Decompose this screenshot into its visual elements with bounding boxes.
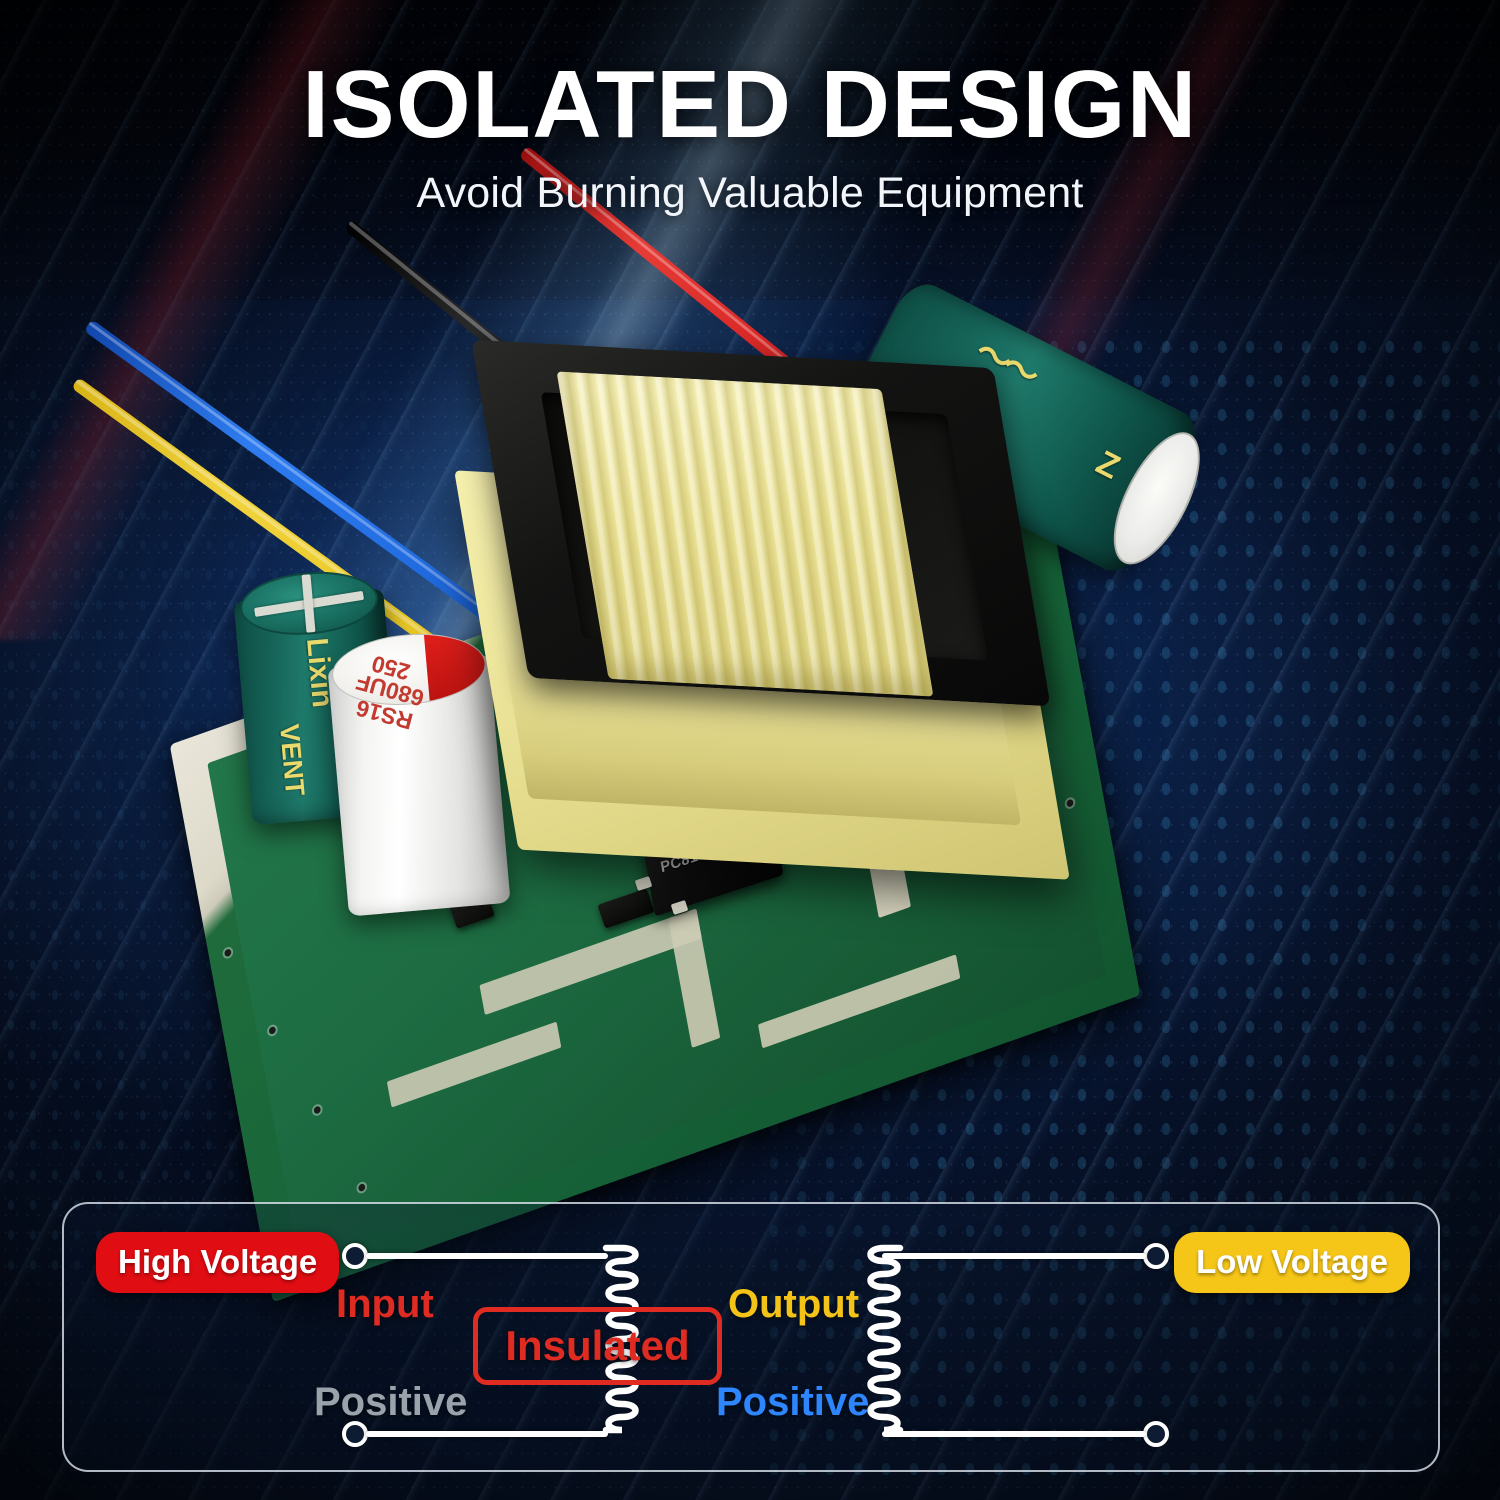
positive-label-right: Positive bbox=[716, 1382, 869, 1422]
input-label: Input bbox=[336, 1284, 434, 1324]
lead-output-top bbox=[882, 1253, 1146, 1259]
lead-input-bottom bbox=[366, 1431, 608, 1437]
product-photo: CT133 PC817 Lixin VENT Z 〜〜 bbox=[0, 230, 1500, 1180]
positive-label-left: Positive bbox=[314, 1382, 467, 1422]
terminal-input-top bbox=[342, 1243, 368, 1269]
transformer bbox=[452, 330, 1112, 890]
low-voltage-badge: Low Voltage bbox=[1174, 1232, 1410, 1293]
infographic-stage: ISOLATED DESIGN Avoid Burning Valuable E… bbox=[0, 0, 1500, 1500]
insulated-box: Insulated bbox=[473, 1307, 722, 1385]
output-label: Output bbox=[728, 1284, 859, 1324]
page-subtitle: Avoid Burning Valuable Equipment bbox=[0, 169, 1500, 218]
insulated-label: Insulated bbox=[505, 1325, 689, 1367]
isolation-diagram-panel: High Voltage Low Voltage Input Positive … bbox=[62, 1202, 1440, 1472]
capacitor-label: VENT bbox=[273, 723, 310, 797]
terminal-input-bottom bbox=[342, 1421, 368, 1447]
high-voltage-badge: High Voltage bbox=[96, 1232, 339, 1293]
transformer-winding-tape bbox=[556, 371, 933, 696]
terminal-output-top bbox=[1143, 1243, 1169, 1269]
lead-input-top bbox=[366, 1253, 608, 1259]
header-block: ISOLATED DESIGN Avoid Burning Valuable E… bbox=[0, 56, 1500, 218]
terminal-output-bottom bbox=[1143, 1421, 1169, 1447]
lead-output-bottom bbox=[882, 1431, 1146, 1437]
page-title: ISOLATED DESIGN bbox=[0, 56, 1500, 155]
